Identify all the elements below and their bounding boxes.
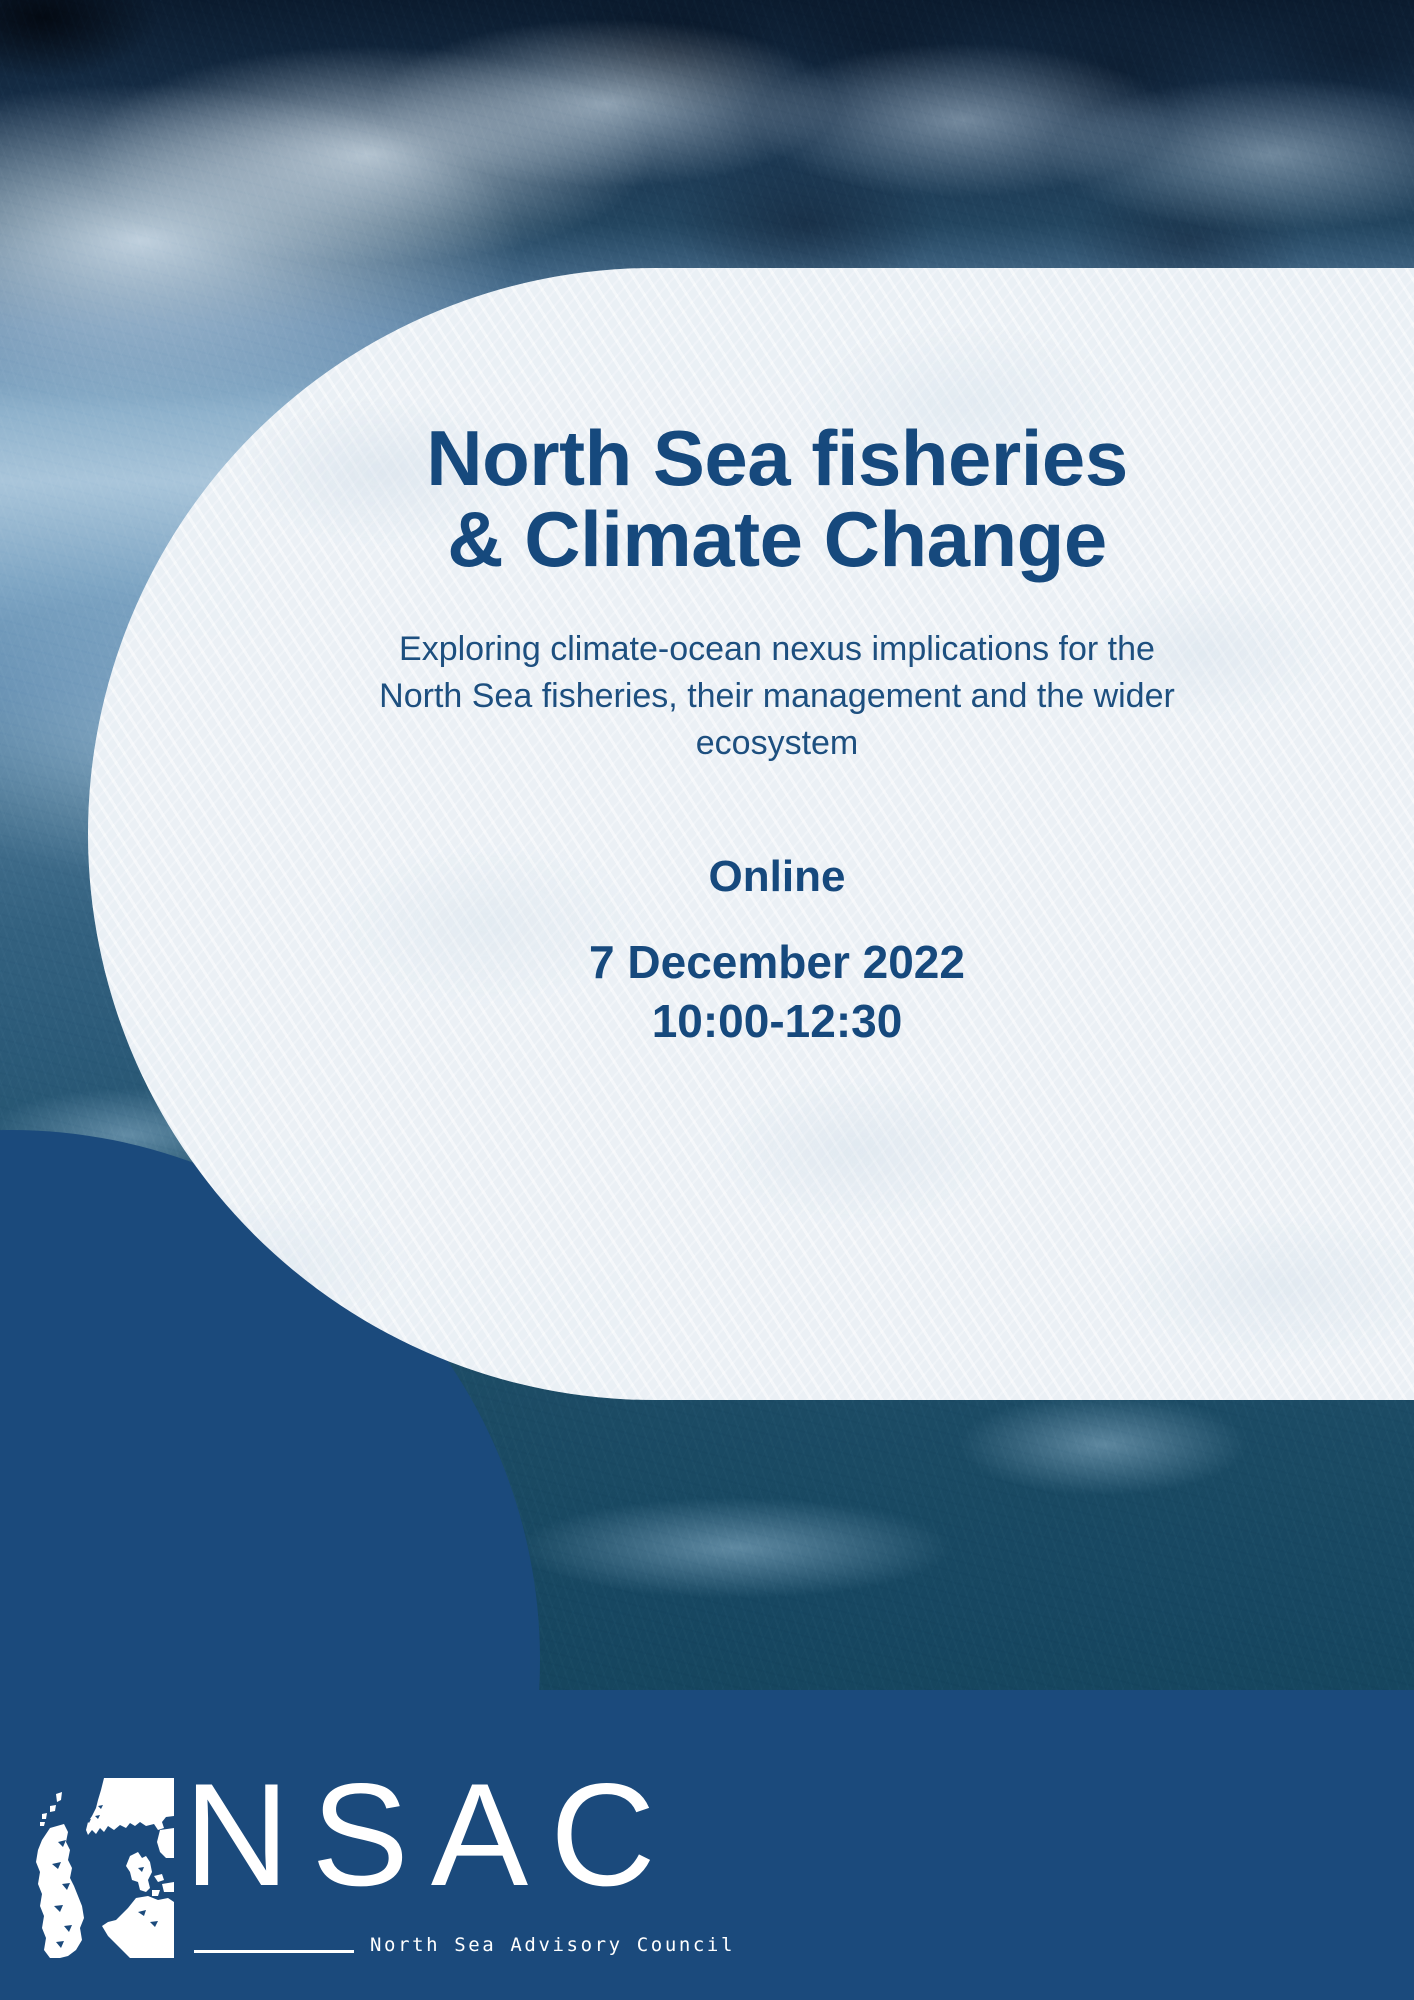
page-title-line-1: North Sea fisheries	[426, 414, 1127, 502]
north-sea-map-icon	[34, 1772, 174, 1962]
logo-divider-rule	[194, 1950, 354, 1953]
nsac-wordmark: NSAC	[184, 1762, 678, 1908]
page-title: North Sea fisheries & Climate Change	[426, 418, 1127, 580]
page-subtitle: Exploring climate-ocean nexus implicatio…	[357, 626, 1197, 767]
nsac-tagline: North Sea Advisory Council	[370, 1934, 735, 1956]
event-location: Online	[589, 853, 965, 901]
nsac-logo: NSAC North Sea Advisory Council	[34, 1768, 554, 1968]
content-card-inner: North Sea fisheries & Climate Change Exp…	[272, 268, 1282, 1400]
poster-canvas: North Sea fisheries & Climate Change Exp…	[0, 0, 1414, 2000]
page-title-line-2: & Climate Change	[426, 499, 1127, 580]
event-time: 10:00-12:30	[589, 996, 965, 1047]
event-details: Online 7 December 2022 10:00-12:30	[589, 853, 965, 1047]
content-card: North Sea fisheries & Climate Change Exp…	[88, 268, 1414, 1400]
event-date: 7 December 2022	[589, 937, 965, 988]
